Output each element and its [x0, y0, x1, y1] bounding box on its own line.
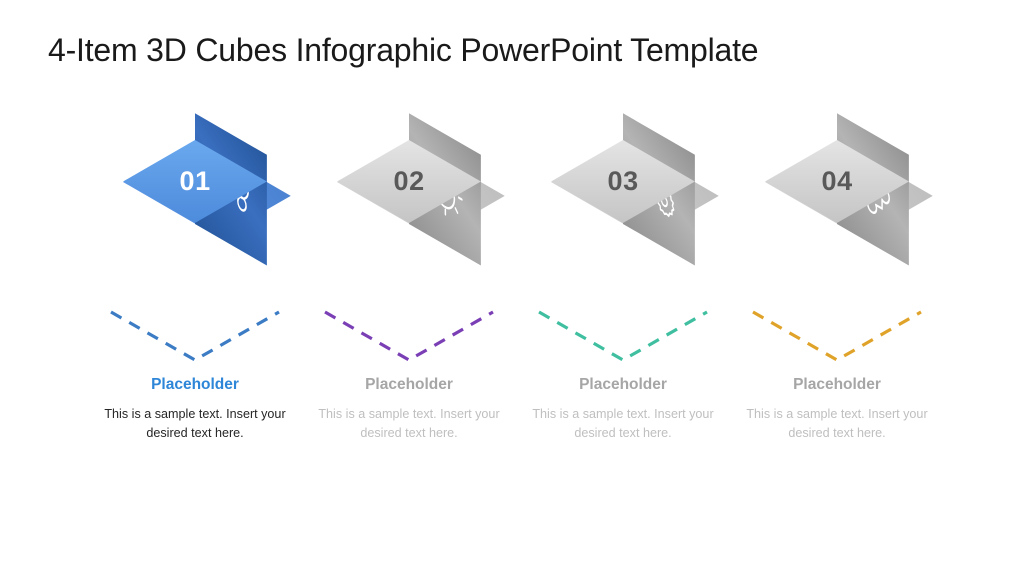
cube-text-block: PlaceholderThis is a sample text. Insert…	[302, 376, 516, 443]
cube-text-block: PlaceholderThis is a sample text. Insert…	[516, 376, 730, 443]
cube-graphic-01[interactable]: 01	[105, 132, 285, 370]
placeholder-body-text[interactable]: This is a sample text. Insert your desir…	[103, 405, 288, 443]
cube-text-block: PlaceholderThis is a sample text. Insert…	[730, 376, 944, 443]
cubes-row: 01PlaceholderThis is a sample text. Inse…	[0, 132, 1024, 512]
cube-graphic-03[interactable]: 03	[533, 132, 713, 370]
cube-body: 01	[123, 138, 267, 338]
placeholder-heading[interactable]: Placeholder	[88, 376, 302, 393]
cube-body: 04	[765, 138, 909, 338]
cube-item-03[interactable]: 03PlaceholderThis is a sample text. Inse…	[516, 132, 730, 512]
placeholder-body-text[interactable]: This is a sample text. Insert your desir…	[317, 405, 502, 443]
cube-item-04[interactable]: 04PlaceholderThis is a sample text. Inse…	[730, 132, 944, 512]
placeholder-heading[interactable]: Placeholder	[730, 376, 944, 393]
cube-item-02[interactable]: 02PlaceholderThis is a sample text. Inse…	[302, 132, 516, 512]
cube-item-01[interactable]: 01PlaceholderThis is a sample text. Inse…	[88, 132, 302, 512]
cube-body: 03	[551, 138, 695, 338]
cube-text-block: PlaceholderThis is a sample text. Insert…	[88, 376, 302, 443]
cube-graphic-02[interactable]: 02	[319, 132, 499, 370]
slide-canvas: 4-Item 3D Cubes Infographic PowerPoint T…	[0, 0, 1024, 576]
placeholder-heading[interactable]: Placeholder	[516, 376, 730, 393]
placeholder-body-text[interactable]: This is a sample text. Insert your desir…	[745, 405, 930, 443]
page-title: 4-Item 3D Cubes Infographic PowerPoint T…	[48, 32, 968, 69]
cube-body: 02	[337, 138, 481, 338]
placeholder-body-text[interactable]: This is a sample text. Insert your desir…	[531, 405, 716, 443]
placeholder-heading[interactable]: Placeholder	[302, 376, 516, 393]
cube-graphic-04[interactable]: 04	[747, 132, 927, 370]
